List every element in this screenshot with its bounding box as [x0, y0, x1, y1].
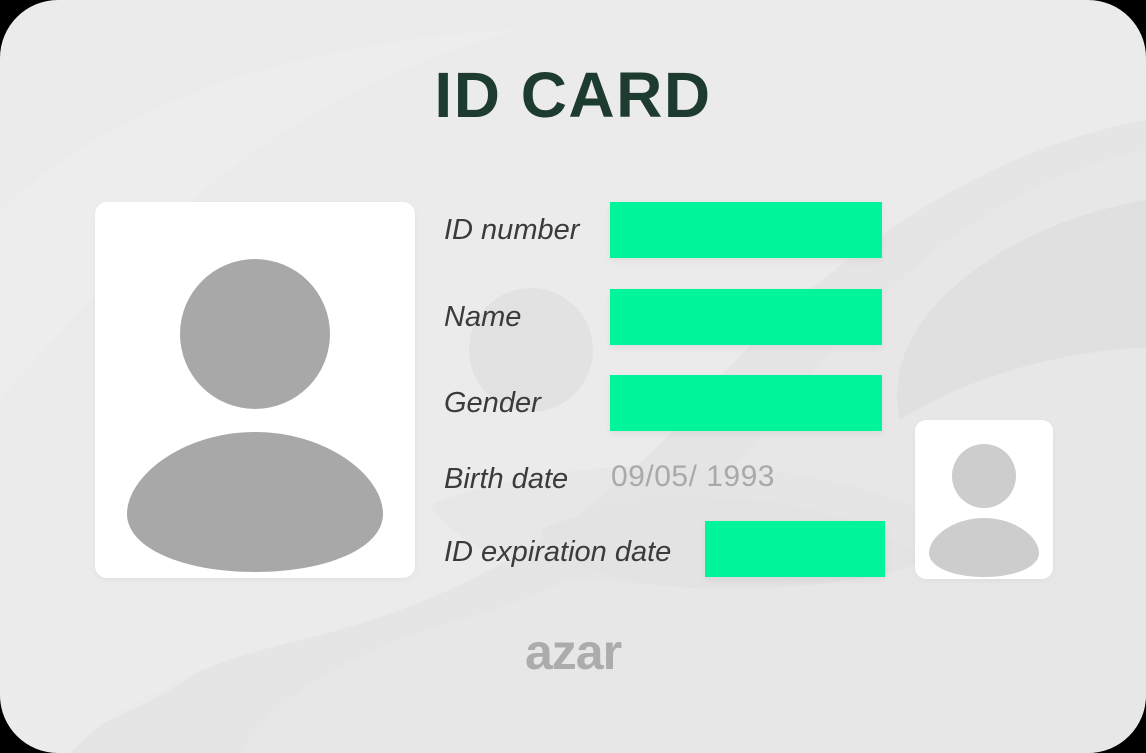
field-value-id-number-redacted[interactable] [610, 202, 882, 258]
field-label-id-expiration-date: ID expiration date [444, 538, 671, 567]
azar-logo: azar [0, 627, 1146, 677]
field-label-birth-date: Birth date [444, 465, 568, 494]
field-value-name-redacted[interactable] [610, 289, 882, 345]
id-card: ID CARD ID number Name Gender Birth date… [0, 0, 1146, 753]
person-silhouette-icon [915, 420, 1053, 579]
portrait-photo[interactable] [95, 202, 415, 578]
field-label-gender: Gender [444, 389, 541, 418]
field-value-birth-date: 09/05/ 1993 [611, 462, 775, 492]
field-value-id-expiration-date-redacted[interactable] [705, 521, 885, 577]
page-title: ID CARD [0, 63, 1146, 127]
field-value-gender-redacted[interactable] [610, 375, 882, 431]
person-silhouette-icon [95, 202, 415, 578]
field-label-name: Name [444, 303, 521, 332]
field-label-id-number: ID number [444, 216, 579, 245]
portrait-thumbnail[interactable] [915, 420, 1053, 579]
